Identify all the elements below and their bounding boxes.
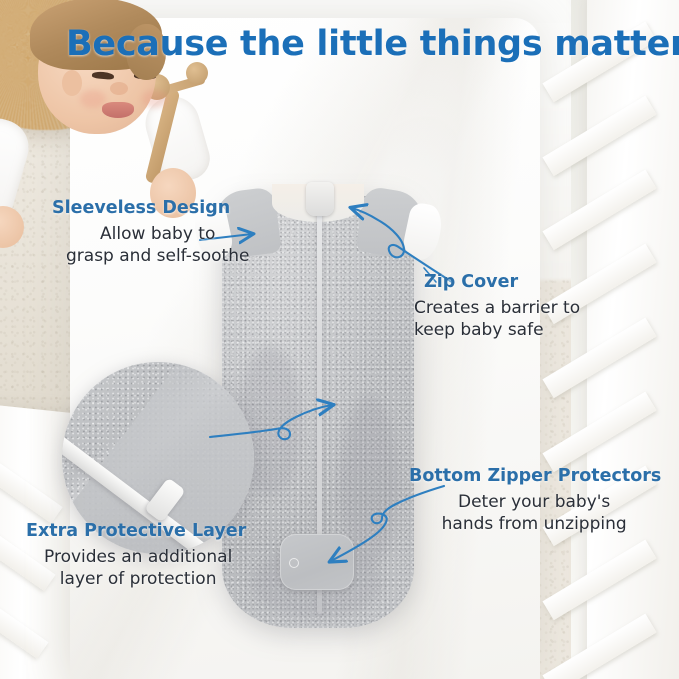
callout-extra-protective-layer: Extra Protective Layer Provides an addit… xyxy=(26,521,246,590)
callout-sleeveless-design: Sleeveless Design Allow baby to grasp an… xyxy=(52,198,249,267)
callout-desc-line: Provides an additional xyxy=(30,547,246,569)
callout-desc-line: grasp and self-soothe xyxy=(66,246,249,268)
bottom-zipper-protector-tab xyxy=(280,534,354,590)
baby-ear xyxy=(62,70,82,96)
infographic-canvas: Because the little things matter Sleevel… xyxy=(0,0,679,679)
baby-cheek xyxy=(142,90,168,108)
baby-eye xyxy=(92,71,115,80)
callout-label-extra-protective-layer: Extra Protective Layer xyxy=(26,521,246,543)
callout-description-zip-cover: Creates a barrier to keep baby safe xyxy=(414,298,580,342)
baby-mouth xyxy=(102,102,134,118)
zip-cover-tab xyxy=(306,182,334,216)
page-title: Because the little things matter xyxy=(66,26,679,63)
callout-label-bottom-zipper-protectors: Bottom Zipper Protectors xyxy=(409,466,661,488)
callout-label-sleeveless-design: Sleeveless Design xyxy=(52,198,249,220)
callout-desc-line: hands from unzipping xyxy=(407,514,661,536)
callout-bottom-zipper-protectors: Bottom Zipper Protectors Deter your baby… xyxy=(409,466,661,535)
callout-desc-line: Deter your baby's xyxy=(407,492,661,514)
callout-desc-line: layer of protection xyxy=(30,569,246,591)
baby-nose xyxy=(110,82,128,95)
callout-desc-line: keep baby safe xyxy=(414,320,580,342)
callout-description-bottom-zipper-protectors: Deter your baby's hands from unzipping xyxy=(407,492,661,536)
callout-description-sleeveless-design: Allow baby to grasp and self-soothe xyxy=(52,224,249,268)
callout-zip-cover: Zip Cover Creates a barrier to keep baby… xyxy=(424,272,580,341)
callout-desc-line: Creates a barrier to xyxy=(414,298,580,320)
wooden-toy-bead xyxy=(186,62,208,84)
callout-description-extra-protective-layer: Provides an additional layer of protecti… xyxy=(26,547,246,591)
callout-label-zip-cover: Zip Cover xyxy=(424,272,580,294)
crib-rail-right xyxy=(587,0,679,679)
callout-desc-line: Allow baby to xyxy=(66,224,249,246)
